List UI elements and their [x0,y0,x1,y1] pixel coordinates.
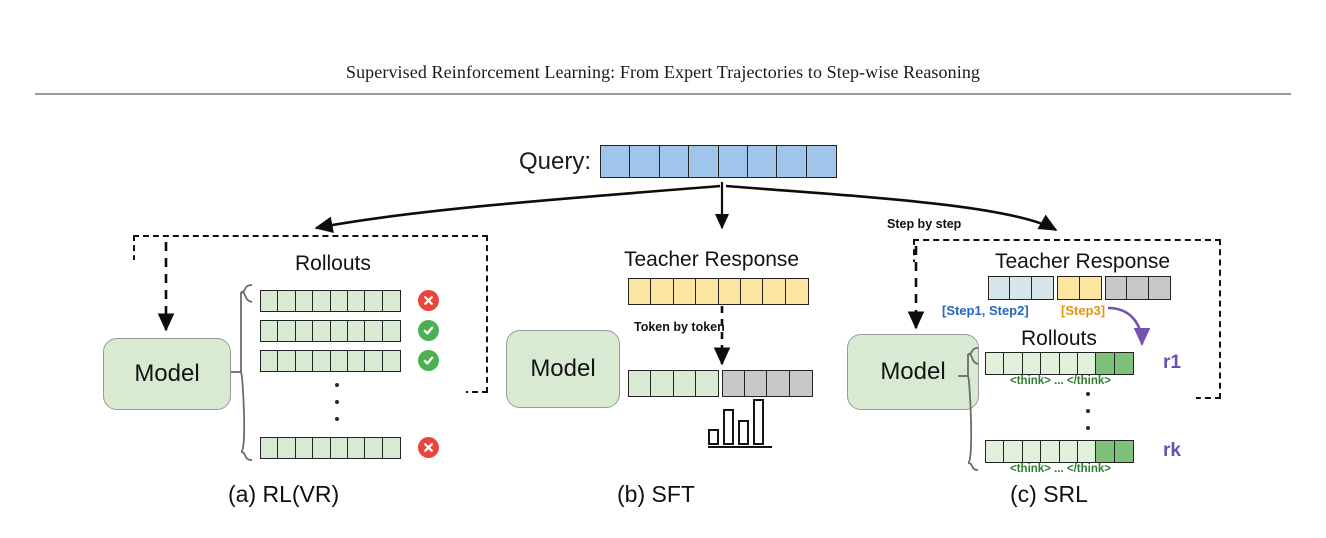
rollout-token-cell [1059,440,1079,463]
panel-b-caption: (b) SFT [617,481,695,508]
ellipsis-dot [335,383,339,387]
teacher-token-cell [695,278,719,305]
panel-b-output-token-row [628,370,811,397]
page-title: Supervised Reinforcement Learning: From … [0,62,1326,83]
output-token-cell-generated [673,370,697,397]
rollout-token-cell [382,320,401,342]
output-token-cell-pending [744,370,768,397]
teacher-token-cell [650,278,674,305]
panel-b-model-label: Model [530,355,595,383]
ellipsis-dot [335,400,339,404]
rollout-token-cell [330,320,349,342]
panel-c-rollout-row [985,352,1132,375]
panel-c-reward-label-r1: r1 [1163,352,1181,374]
teacher-token-cell [740,278,764,305]
rollout-token-cell [260,350,279,372]
rollout-token-cell [364,437,383,459]
panel-b-teacher-heading: Teacher Response [624,248,799,272]
rollout-token-cell [364,290,383,312]
rollout-token-cell [364,350,383,372]
panel-c-model-box: Model [847,334,979,410]
panel-b-model-box: Model [506,330,620,408]
rollout-token-cell [985,440,1005,463]
probability-bar [738,420,749,445]
output-token-cell-pending [766,370,790,397]
probability-bar [723,409,734,445]
query-to-panel-a-arrow [316,186,720,228]
rollout-token-cell [312,320,331,342]
rollout-token-cell [347,350,366,372]
panel-b-teacher-token-row [628,278,807,305]
panel-c-rollouts-heading: Rollouts [1021,327,1097,351]
rollout-token-cell [295,320,314,342]
query-token-cell [776,145,807,178]
status-check-icon [418,320,439,341]
rollout-action-cell [1114,352,1134,375]
rollout-token-cell [330,350,349,372]
status-cross-icon [418,290,439,311]
rollout-token-cell [312,290,331,312]
rollout-token-cell [382,437,401,459]
teacher-token-cell [1126,276,1149,300]
probability-bar [708,429,719,445]
output-token-cell-generated [695,370,719,397]
rollout-action-cell [1095,352,1115,375]
teacher-token-cell [1009,276,1032,300]
teacher-token-cell [1031,276,1054,300]
rollout-token-cell [277,320,296,342]
query-token-cell [688,145,719,178]
rollout-action-cell [1114,440,1134,463]
panel-a-caption: (a) RL(VR) [228,481,339,508]
query-token-cell [659,145,690,178]
panel-a-model-label: Model [134,360,199,388]
rollout-token-cell [277,350,296,372]
panel-c-think-tag: <think> ... </think> [1010,463,1111,475]
rollout-token-cell [277,290,296,312]
panel-a-rollout-row [260,290,399,312]
query-token-cell [600,145,631,178]
rollout-token-cell [1022,352,1042,375]
figure-canvas: Supervised Reinforcement Learning: From … [0,0,1326,538]
rollout-token-cell [1077,352,1097,375]
rollout-token-cell [295,290,314,312]
panel-c-step3-label: [Step3] [1061,303,1105,318]
panel-a-rollouts-heading: Rollouts [295,252,371,276]
rollout-token-cell [1040,440,1060,463]
rollout-token-cell [330,437,349,459]
rollout-token-cell [347,290,366,312]
rollout-token-cell [1059,352,1079,375]
query-label: Query: [519,148,591,176]
ellipsis-dot [1086,409,1090,413]
panel-a-rollout-row [260,350,399,372]
panel-c-teacher-heading: Teacher Response [995,250,1170,274]
teacher-token-cell [762,278,786,305]
rollout-token-cell [330,290,349,312]
panel-c-caption: (c) SRL [1010,481,1088,508]
teacher-token-cell [1057,276,1080,300]
panel-b-probability-barchart [708,396,770,448]
rollout-token-cell [382,350,401,372]
panel-c-step-label: Step by step [887,217,961,231]
output-token-cell-generated [650,370,674,397]
rollout-token-cell [364,320,383,342]
teacher-token-cell [718,278,742,305]
teacher-token-cell [673,278,697,305]
rollout-token-cell [312,437,331,459]
panel-c-think-tag: <think> ... </think> [1010,375,1111,387]
panel-c-step12-label: [Step1, Step2] [942,303,1029,318]
rollout-token-cell [295,350,314,372]
teacher-token-group [1057,276,1100,300]
rollout-token-cell [260,437,279,459]
teacher-token-cell [1148,276,1171,300]
query-token-cell [629,145,660,178]
rollout-token-cell [1022,440,1042,463]
rollout-token-cell [295,437,314,459]
panel-c-reward-label-rk: rk [1163,440,1181,462]
rollout-token-cell [347,320,366,342]
panel-a-model-box: Model [103,338,231,410]
header-divider [35,93,1291,95]
teacher-token-cell [785,278,809,305]
panel-b-token-label: Token by token [634,320,725,334]
query-token-row [600,145,835,178]
rollout-token-cell [985,352,1005,375]
panel-a-rollout-row [260,320,399,342]
query-token-cell [806,145,837,178]
panel-a-rollout-row [260,437,399,459]
rollout-token-cell [347,437,366,459]
output-token-cell-generated [628,370,652,397]
rollout-token-cell [1003,440,1023,463]
ellipsis-dot [335,417,339,421]
panel-c-teacher-token-row [988,276,1169,300]
query-token-cell [747,145,778,178]
ellipsis-dot [1086,392,1090,396]
panel-c-model-label: Model [880,358,945,386]
rollout-action-cell [1095,440,1115,463]
output-token-cell-pending [722,370,746,397]
rollout-token-cell [1040,352,1060,375]
teacher-token-cell [1105,276,1128,300]
status-check-icon [418,350,439,371]
probability-bar [753,399,764,445]
teacher-token-group [988,276,1052,300]
output-token-cell-pending [789,370,813,397]
rollout-token-cell [260,320,279,342]
status-cross-icon [418,437,439,458]
rollout-token-cell [1003,352,1023,375]
rollout-token-cell [382,290,401,312]
barchart-baseline [708,446,772,449]
teacher-token-cell [628,278,652,305]
query-token-cell [718,145,749,178]
rollout-token-cell [260,290,279,312]
rollout-token-cell [277,437,296,459]
teacher-token-cell [988,276,1011,300]
teacher-token-group [1105,276,1169,300]
panel-c-rollout-row [985,440,1132,463]
rollout-token-cell [1077,440,1097,463]
teacher-token-cell [1079,276,1102,300]
rollout-token-cell [312,350,331,372]
ellipsis-dot [1086,426,1090,430]
